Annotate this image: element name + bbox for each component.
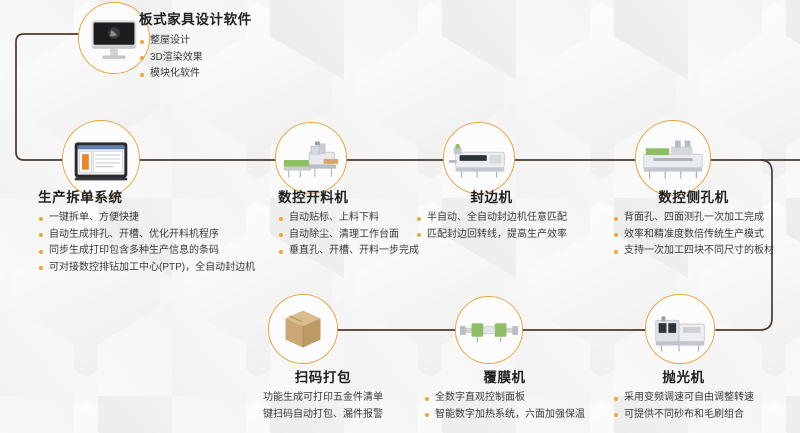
cnc-cutting-machine-icon: [275, 122, 347, 194]
node-title: 抛光机: [613, 366, 754, 386]
cnc-cutting-machine-text: 数控开料机 自动贴标、上料下料 自动除尘、清理工作台面 垂直孔、开槽、开料一步完…: [278, 186, 419, 260]
node-title: 生产拆单系统: [38, 186, 255, 206]
node-bullets: 半自动、全自动封边机任意匹配 匹配封边回转线，提高生产效率: [416, 210, 567, 243]
node-bullets: 采用变频调速可自由调整转速 可提供不同砂布和毛刷组合: [613, 390, 754, 423]
node-title: 封边机: [416, 186, 567, 206]
node-title: 板式家具设计软件: [139, 8, 252, 28]
bullet-item: 支持一次加工四块不同尺寸的板材: [613, 243, 774, 260]
node-bullets: 自动贴标、上料下料 自动除尘、清理工作台面 垂直孔、开槽、开料一步完成: [278, 210, 419, 260]
bullet-item: 功能生成可打印五金件清单: [248, 390, 398, 407]
bullet-item: 同步生成打印包含多种生产信息的条码: [38, 243, 255, 260]
node-title: 数控开料机: [278, 186, 419, 206]
node-bullets: 一键拆单、方便快捷 自动生成排孔、开槽、优化开料机程序 同步生成打印包含多种生产…: [38, 210, 255, 276]
bullet-item: 整屋设计: [139, 33, 252, 50]
bullet-item: 一键拆单、方便快捷: [38, 210, 255, 227]
edge-banding-machine-icon: [443, 122, 515, 194]
cnc-side-drilling-machine-text: 数控侧孔机 背面孔、四面测孔一次加工完成 效率和精准度数倍传统生产模式 支持一次…: [613, 186, 774, 260]
split-order-system-text: 生产拆单系统 一键拆单、方便快捷 自动生成排孔、开槽、优化开料机程序 同步生成打…: [38, 186, 255, 276]
cardboard-box-icon: [268, 294, 338, 364]
bullet-item: 匹配封边回转线，提高生产效率: [416, 227, 567, 244]
laminating-machine-text: 覆膜机 全数字直观控制面板 智能数字加热系统，六面加强保温: [424, 366, 585, 423]
node-title: 数控侧孔机: [613, 186, 774, 206]
bullet-item: 垂直孔、开槽、开料一步完成: [278, 243, 419, 260]
polishing-machine-text: 抛光机 采用变频调速可自由调整转速 可提供不同砂布和毛刷组合: [613, 366, 754, 423]
scan-code-packing-text: 扫码打包 功能生成可打印五金件清单 键扫码自动打包、漏件报警: [248, 366, 398, 423]
edge-banding-machine-text: 封边机 半自动、全自动封边机任意匹配 匹配封边回转线，提高生产效率: [416, 186, 567, 243]
node-bullets: 背面孔、四面测孔一次加工完成 效率和精准度数倍传统生产模式 支持一次加工四块不同…: [613, 210, 774, 260]
bullet-item: 自动贴标、上料下料: [278, 210, 419, 227]
bullet-item: 效率和精准度数倍传统生产模式: [613, 227, 774, 244]
bullet-item: 自动生成排孔、开槽、优化开料机程序: [38, 227, 255, 244]
bullet-item: 自动除尘、清理工作台面: [278, 227, 419, 244]
laminating-machine-icon: [455, 296, 523, 364]
node-title: 覆膜机: [424, 366, 585, 386]
bullet-item: 3D渲染效果: [139, 50, 252, 67]
bullet-item: 全数字直观控制面板: [424, 390, 585, 407]
polishing-machine-icon: [645, 294, 715, 364]
bullet-item: 背面孔、四面测孔一次加工完成: [613, 210, 774, 227]
bullet-item: 可对接数控排钻加工中心(PTP)，全自动封边机: [38, 260, 255, 277]
bullet-item: 可提供不同砂布和毛刷组合: [613, 407, 754, 424]
design-software-text: 板式家具设计软件 整屋设计 3D渲染效果 模块化软件: [139, 8, 252, 83]
cnc-drilling-machine-icon: [635, 120, 711, 196]
bullet-item: 半自动、全自动封边机任意匹配: [416, 210, 567, 227]
node-bullets: 功能生成可打印五金件清单 键扫码自动打包、漏件报警: [248, 390, 398, 423]
bullet-item: 键扫码自动打包、漏件报警: [248, 407, 398, 424]
node-title: 扫码打包: [248, 366, 398, 386]
bullet-item: 智能数字加热系统，六面加强保温: [424, 407, 585, 424]
bullet-item: 模块化软件: [139, 66, 252, 83]
node-bullets: 整屋设计 3D渲染效果 模块化软件: [139, 33, 252, 83]
bullet-item: 采用变频调速可自由调整转速: [613, 390, 754, 407]
node-bullets: 全数字直观控制面板 智能数字加热系统，六面加强保温: [424, 390, 585, 423]
